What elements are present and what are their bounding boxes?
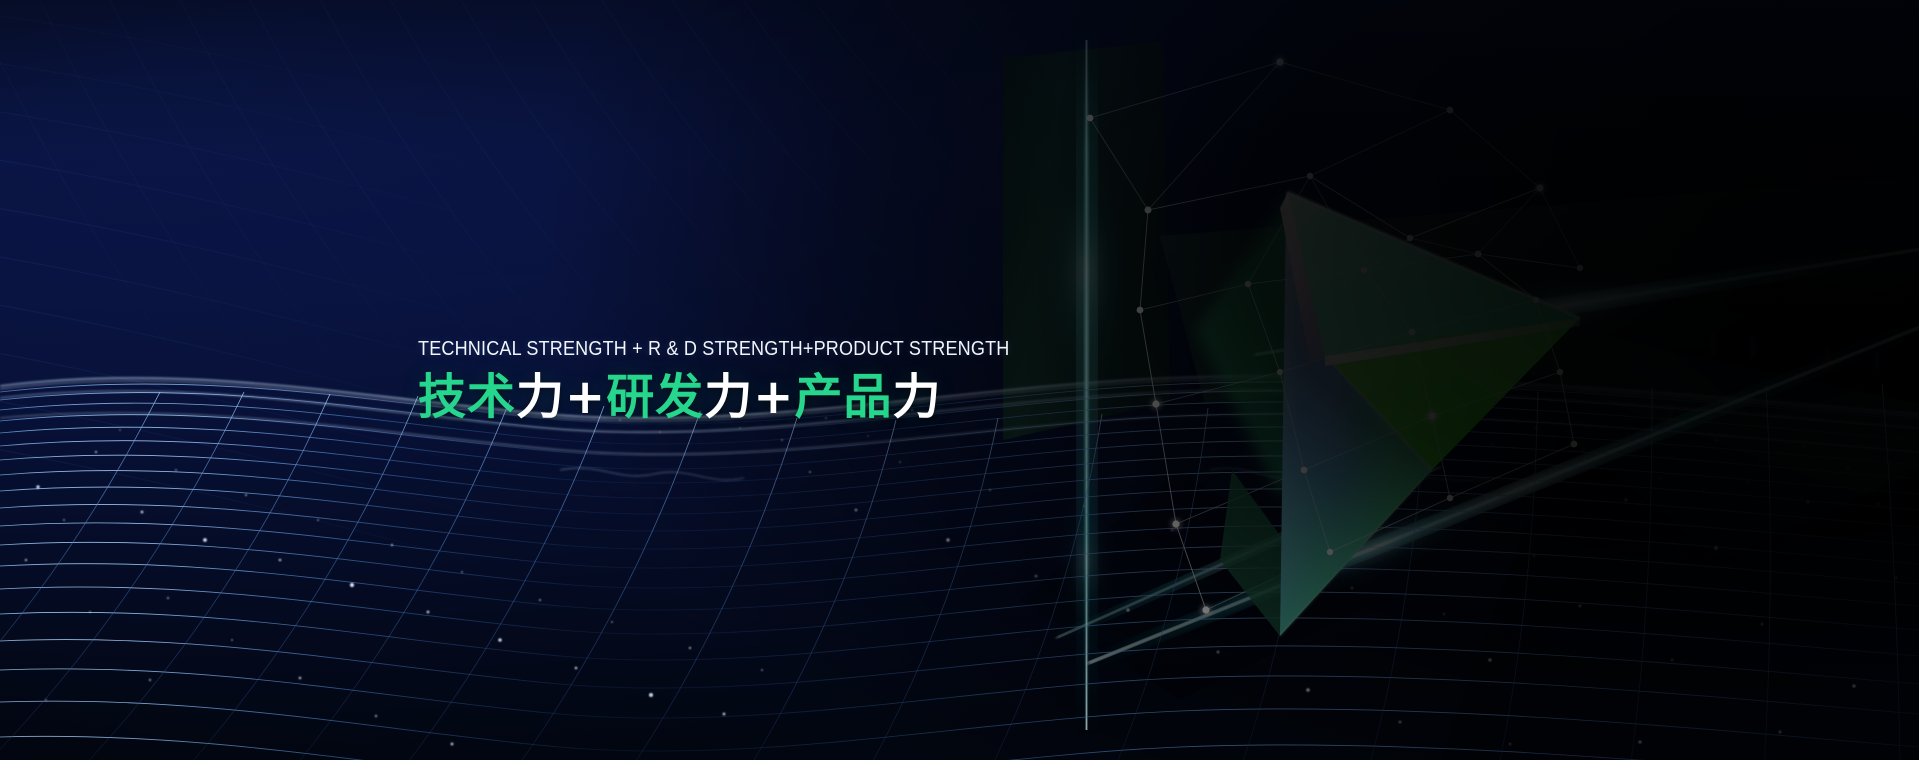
headline-seg-2: + — [565, 369, 606, 425]
headline-seg-1: 力 — [516, 369, 565, 425]
hero-headline: 技术力+研发力+产品力 — [418, 368, 1178, 426]
headline-seg-3: 研发 — [606, 369, 704, 425]
hero-banner: TECHNICAL STRENGTH + R & D STRENGTH+PROD… — [0, 0, 1919, 760]
headline-seg-7: 力 — [893, 369, 942, 425]
hero-eyebrow: TECHNICAL STRENGTH + R & D STRENGTH+PROD… — [418, 336, 1087, 362]
hero-text-block: TECHNICAL STRENGTH + R & D STRENGTH+PROD… — [418, 336, 1178, 426]
headline-seg-5: + — [753, 369, 794, 425]
headline-seg-6: 产品 — [795, 369, 893, 425]
prism-arrow-logo-svg — [980, 0, 1600, 640]
prism-arrow-logo — [980, 0, 1600, 640]
headline-seg-0: 技术 — [418, 369, 516, 425]
headline-seg-4: 力 — [704, 369, 753, 425]
